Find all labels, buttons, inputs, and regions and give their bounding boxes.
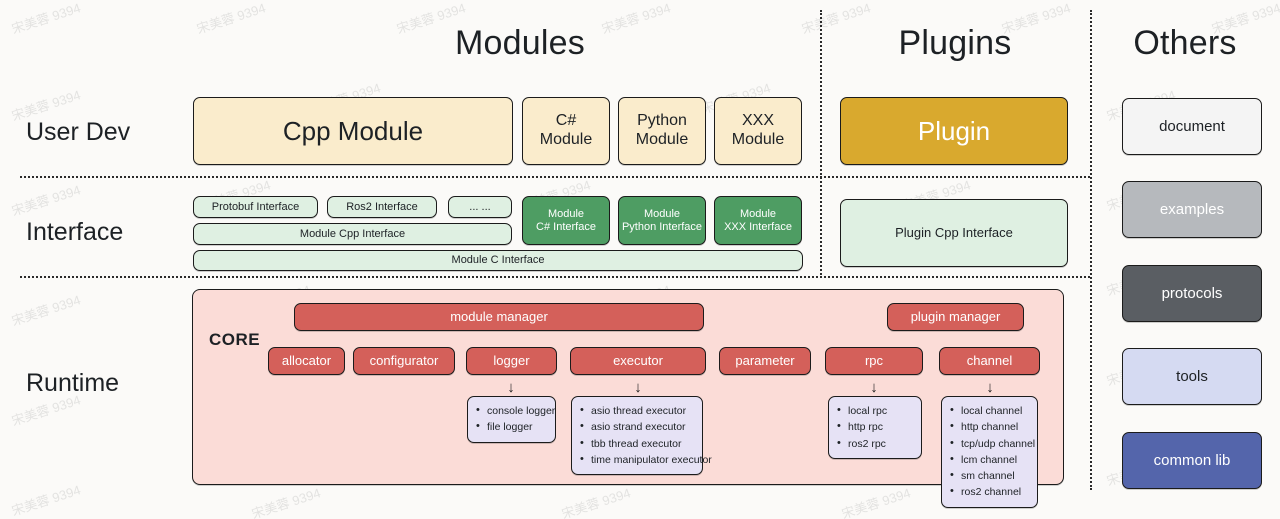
column-header-plugins: Plugins bbox=[830, 24, 1080, 63]
list-item: file logger bbox=[476, 419, 547, 435]
box-csharp-module[interactable]: C# Module bbox=[522, 97, 610, 165]
divider-interface-runtime bbox=[20, 276, 1090, 278]
box-python-module[interactable]: Python Module bbox=[618, 97, 706, 165]
watermark: 宋美蓉 9394 bbox=[249, 482, 323, 519]
list-item: http channel bbox=[950, 419, 1029, 435]
watermark: 宋美蓉 9394 bbox=[9, 179, 83, 219]
list-item: ros2 rpc bbox=[837, 436, 913, 452]
watermark: 宋美蓉 9394 bbox=[839, 482, 913, 519]
box-logger[interactable]: logger bbox=[466, 347, 557, 375]
arrow-logger-down: ↓ bbox=[504, 380, 518, 395]
list-item: http rpc bbox=[837, 419, 913, 435]
arrow-executor-down: ↓ bbox=[631, 380, 645, 395]
box-module-python-interface[interactable]: Module Python Interface bbox=[618, 196, 706, 245]
channel-item-list: local channelhttp channeltcp/udp channel… bbox=[950, 403, 1029, 501]
column-header-others: Others bbox=[1100, 24, 1270, 63]
panel-executor-items: asio thread executorasio strand executor… bbox=[571, 396, 703, 475]
box-configurator[interactable]: configurator bbox=[353, 347, 455, 375]
box-plugin-cpp-interface[interactable]: Plugin Cpp Interface bbox=[840, 199, 1068, 267]
diagram-canvas: 宋美蓉 9394 宋美蓉 9394 宋美蓉 9394 宋美蓉 9394 宋美蓉 … bbox=[0, 0, 1280, 519]
list-item: local rpc bbox=[837, 403, 913, 419]
box-ellipsis-interface[interactable]: ... ... bbox=[448, 196, 512, 218]
box-channel[interactable]: channel bbox=[939, 347, 1040, 375]
executor-item-list: asio thread executorasio strand executor… bbox=[580, 403, 694, 468]
box-module-c-interface[interactable]: Module C Interface bbox=[193, 250, 803, 271]
box-tools[interactable]: tools bbox=[1122, 348, 1262, 405]
divider-plugins-others bbox=[1090, 10, 1092, 490]
panel-logger-items: console loggerfile logger bbox=[467, 396, 556, 443]
list-item: asio strand executor bbox=[580, 419, 694, 435]
list-item: console logger bbox=[476, 403, 547, 419]
arrow-channel-down: ↓ bbox=[983, 380, 997, 395]
core-label: CORE bbox=[209, 330, 260, 350]
list-item: asio thread executor bbox=[580, 403, 694, 419]
box-module-xxx-interface[interactable]: Module XXX Interface bbox=[714, 196, 802, 245]
divider-modules-plugins bbox=[820, 10, 822, 278]
box-executor[interactable]: executor bbox=[570, 347, 706, 375]
panel-rpc-items: local rpchttp rpcros2 rpc bbox=[828, 396, 922, 459]
list-item: sm channel bbox=[950, 468, 1029, 484]
box-cpp-module[interactable]: Cpp Module bbox=[193, 97, 513, 165]
box-common-lib[interactable]: common lib bbox=[1122, 432, 1262, 489]
row-label-user-dev: User Dev bbox=[26, 118, 130, 147]
arrow-rpc-down: ↓ bbox=[867, 380, 881, 395]
row-label-interface: Interface bbox=[26, 218, 123, 247]
list-item: tbb thread executor bbox=[580, 436, 694, 452]
row-label-runtime: Runtime bbox=[26, 369, 119, 398]
list-item: ros2 channel bbox=[950, 484, 1029, 500]
box-rpc[interactable]: rpc bbox=[825, 347, 923, 375]
divider-user-dev-interface bbox=[20, 176, 1090, 178]
box-plugin[interactable]: Plugin bbox=[840, 97, 1068, 165]
watermark: 宋美蓉 9394 bbox=[194, 0, 268, 38]
list-item: local channel bbox=[950, 403, 1029, 419]
watermark: 宋美蓉 9394 bbox=[9, 289, 83, 329]
panel-channel-items: local channelhttp channeltcp/udp channel… bbox=[941, 396, 1038, 508]
box-parameter[interactable]: parameter bbox=[719, 347, 811, 375]
list-item: tcp/udp channel bbox=[950, 436, 1029, 452]
rpc-item-list: local rpchttp rpcros2 rpc bbox=[837, 403, 913, 452]
box-module-manager[interactable]: module manager bbox=[294, 303, 704, 331]
list-item: lcm channel bbox=[950, 452, 1029, 468]
box-xxx-module[interactable]: XXX Module bbox=[714, 97, 802, 165]
box-document[interactable]: document bbox=[1122, 98, 1262, 155]
box-protobuf-interface[interactable]: Protobuf Interface bbox=[193, 196, 318, 218]
box-plugin-manager[interactable]: plugin manager bbox=[887, 303, 1024, 331]
logger-item-list: console loggerfile logger bbox=[476, 403, 547, 436]
watermark: 宋美蓉 9394 bbox=[559, 482, 633, 519]
box-examples[interactable]: examples bbox=[1122, 181, 1262, 238]
watermark: 宋美蓉 9394 bbox=[9, 479, 83, 519]
column-header-modules: Modules bbox=[300, 24, 740, 63]
box-module-cpp-interface[interactable]: Module Cpp Interface bbox=[193, 223, 512, 245]
watermark: 宋美蓉 9394 bbox=[9, 0, 83, 38]
box-ros2-interface[interactable]: Ros2 Interface bbox=[327, 196, 437, 218]
box-allocator[interactable]: allocator bbox=[268, 347, 345, 375]
box-module-csharp-interface[interactable]: Module C# Interface bbox=[522, 196, 610, 245]
box-protocols[interactable]: protocols bbox=[1122, 265, 1262, 322]
list-item: time manipulator executor bbox=[580, 452, 694, 468]
